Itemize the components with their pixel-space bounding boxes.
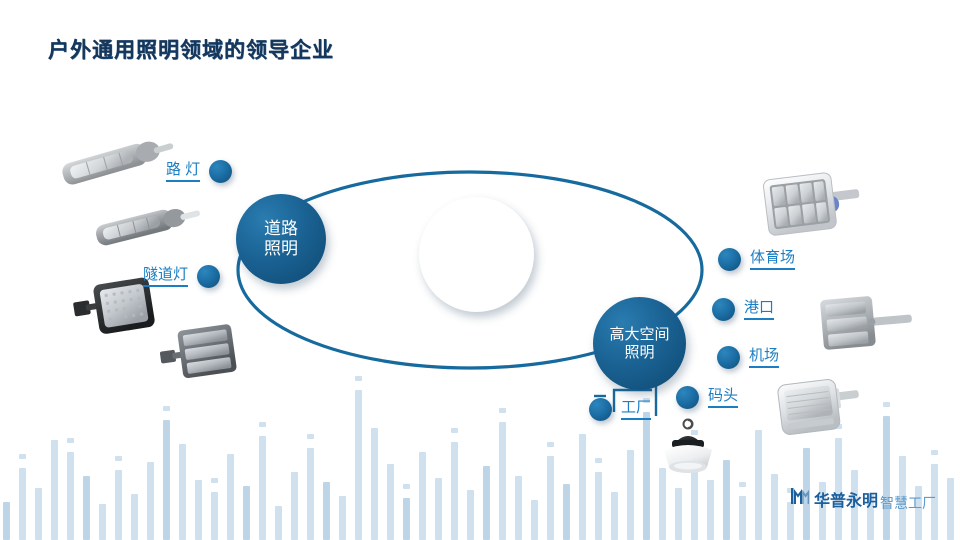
decor-bar xyxy=(243,486,250,540)
decor-bar xyxy=(611,492,618,540)
leaf-dot-icon xyxy=(589,398,612,421)
page-title: 户外通用照明领域的领导企业 xyxy=(48,34,334,64)
decor-bar-tick xyxy=(595,458,602,463)
hub-road-lighting[interactable]: 道路 照明 xyxy=(236,194,326,284)
decor-bar xyxy=(451,442,458,540)
decor-bar xyxy=(515,476,522,540)
decor-bar-tick xyxy=(451,428,458,433)
decor-bar xyxy=(547,456,554,540)
leaf-street-lamp-label: 路 灯 xyxy=(166,161,200,181)
decor-bar-tick xyxy=(307,434,314,439)
decor-bar xyxy=(339,496,346,540)
hub-center-line2: 体系 xyxy=(457,255,495,277)
decor-bar xyxy=(627,450,634,540)
decor-bar xyxy=(35,488,42,540)
decor-bar-tick xyxy=(115,456,122,461)
decor-bar xyxy=(291,472,298,540)
decor-bar xyxy=(259,436,266,540)
decor-bar xyxy=(563,484,570,540)
decor-bar xyxy=(179,444,186,540)
hub-product-system[interactable]: 产品 体系 xyxy=(419,197,534,312)
decor-bar-tick xyxy=(259,422,266,427)
decor-bar-tick xyxy=(499,408,506,413)
decor-bar xyxy=(323,482,330,540)
leaf-stadium[interactable]: 体育场 xyxy=(718,248,795,271)
decor-bar xyxy=(211,492,218,540)
leaf-street-lamp[interactable]: 路 灯 xyxy=(166,160,232,183)
decor-bar xyxy=(371,428,378,540)
leaf-factory[interactable]: 工厂 xyxy=(589,398,651,421)
decor-bar xyxy=(83,476,90,540)
decor-bar xyxy=(99,504,106,540)
decor-bar xyxy=(387,464,394,540)
slide-canvas: 户外通用照明领域的领导企业 xyxy=(0,0,960,540)
decor-bar xyxy=(483,466,490,540)
product-port-light xyxy=(818,288,922,363)
hub-high-line1: 高大空间 xyxy=(609,326,669,344)
hub-high-line2: 照明 xyxy=(624,344,654,362)
leaf-dot-icon xyxy=(209,160,232,183)
brand-mark-icon xyxy=(791,487,809,510)
decor-bar xyxy=(595,472,602,540)
decor-bar xyxy=(675,488,682,540)
decor-bar xyxy=(19,468,26,540)
decor-bar xyxy=(579,434,586,540)
product-airport-light xyxy=(776,374,874,445)
leaf-tunnel-lamp[interactable]: 隧道灯 xyxy=(143,265,220,288)
leaf-dot-icon xyxy=(197,265,220,288)
brand-logo: 华普永明 智慧工厂 xyxy=(791,487,936,510)
brand-subname: 智慧工厂 xyxy=(880,496,936,510)
decor-bar-tick xyxy=(739,482,746,487)
decor-bar xyxy=(499,422,506,540)
leaf-wharf[interactable]: 码头 xyxy=(676,386,738,409)
leaf-dot-icon xyxy=(676,386,699,409)
decor-bar xyxy=(403,498,410,540)
product-stadium-light xyxy=(762,166,872,247)
decor-bar xyxy=(3,502,10,540)
decor-bar-tick xyxy=(163,406,170,411)
decor-bar xyxy=(771,474,778,540)
decor-bar xyxy=(947,478,954,540)
decor-bar xyxy=(227,454,234,540)
leaf-dot-icon xyxy=(712,298,735,321)
decor-bar xyxy=(755,430,762,540)
decor-bar xyxy=(419,452,426,540)
leaf-stadium-label: 体育场 xyxy=(750,249,795,269)
decor-bar xyxy=(195,480,202,540)
decor-bar xyxy=(163,420,170,540)
decor-bar-tick xyxy=(547,442,554,447)
decor-bar xyxy=(739,496,746,540)
decor-bar xyxy=(531,500,538,540)
leaf-dot-icon xyxy=(718,248,741,271)
decor-bar xyxy=(275,506,282,540)
leaf-wharf-label: 码头 xyxy=(708,387,738,407)
decor-bar xyxy=(131,494,138,540)
decor-bar xyxy=(67,452,74,540)
leaf-factory-label: 工厂 xyxy=(621,399,651,419)
decor-bar-tick xyxy=(883,402,890,407)
decor-bar xyxy=(643,412,650,540)
decor-bar xyxy=(307,448,314,540)
decor-bar xyxy=(115,470,122,540)
product-street-lamp-2 xyxy=(88,194,206,267)
leaf-tunnel-lamp-label: 隧道灯 xyxy=(143,266,188,286)
decor-bar-tick xyxy=(19,454,26,459)
hub-road-line1: 道路 xyxy=(264,219,298,239)
leaf-airport[interactable]: 机场 xyxy=(717,346,779,369)
leaf-port-label: 港口 xyxy=(744,299,774,319)
hub-center-line1: 产品 xyxy=(457,232,495,254)
brand-name: 华普永明 xyxy=(814,494,878,510)
decor-bar xyxy=(435,478,442,540)
product-highbay-light xyxy=(650,412,726,493)
decor-bar-tick xyxy=(403,484,410,489)
leaf-dot-icon xyxy=(717,346,740,369)
decor-bar-tick xyxy=(211,478,218,483)
hub-road-line2: 照明 xyxy=(264,239,298,259)
decor-bar xyxy=(147,462,154,540)
decor-bar-tick xyxy=(67,438,74,443)
decor-bar xyxy=(51,440,58,540)
decor-bar xyxy=(467,490,474,540)
hub-high-space-lighting[interactable]: 高大空间 照明 xyxy=(593,297,686,390)
decor-bar xyxy=(355,390,362,540)
decor-bar-tick xyxy=(931,450,938,455)
decor-bar xyxy=(883,416,890,540)
leaf-airport-label: 机场 xyxy=(749,347,779,367)
leaf-port[interactable]: 港口 xyxy=(712,298,774,321)
